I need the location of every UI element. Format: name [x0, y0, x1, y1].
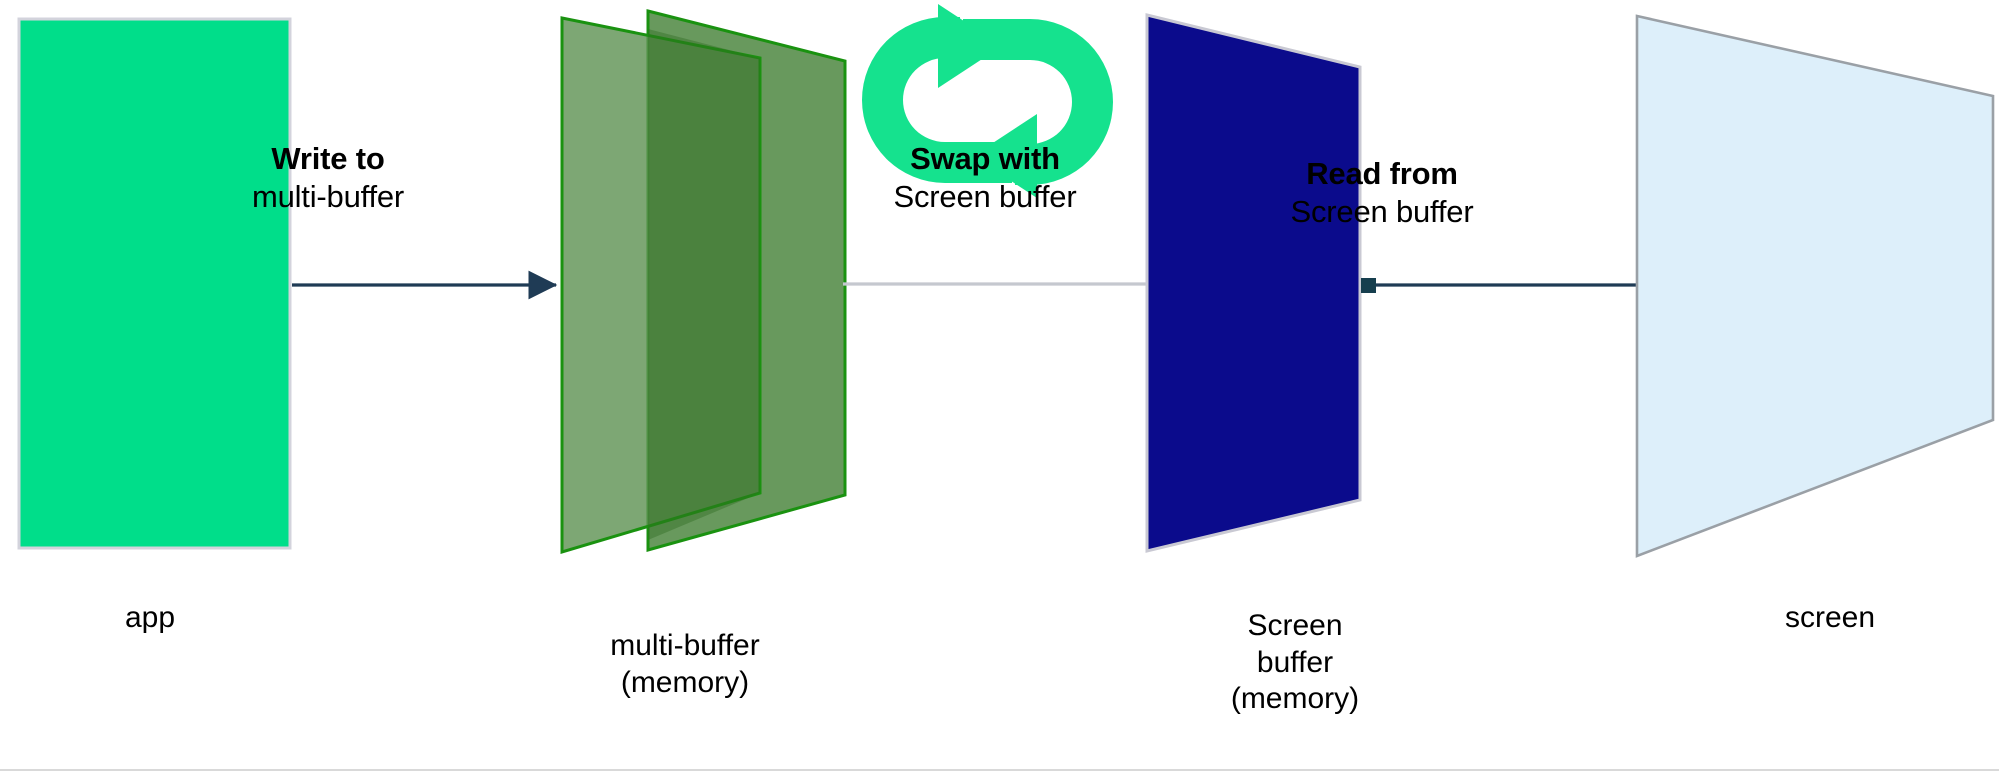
node-screen-caption: screen	[1640, 600, 1999, 637]
node-screenbuffer-caption-line-1: Screen	[1125, 608, 1465, 645]
node-screen-caption-line-1: screen	[1640, 600, 1999, 637]
node-multibuffer-caption: multi-buffer (memory)	[415, 628, 955, 701]
connector-read-label-plain: Screen buffer	[1172, 193, 1592, 231]
node-app-caption: app	[0, 600, 340, 637]
node-screenbuffer-shape	[1147, 15, 1360, 551]
node-app-caption-line-1: app	[0, 600, 340, 637]
connector-write-label-bold: Write to	[118, 140, 538, 178]
node-screenbuffer-caption-line-3: (memory)	[1125, 681, 1465, 718]
diagram-canvas: Write to multi-buffer Swap with Screen b…	[0, 0, 1999, 771]
connector-swap-label-plain: Screen buffer	[775, 178, 1195, 216]
connector-swap-label-bold: Swap with	[775, 140, 1195, 178]
node-multibuffer-caption-line-1: multi-buffer	[415, 628, 955, 665]
node-screenbuffer-caption-line-2: buffer	[1125, 645, 1465, 682]
connector-write-label: Write to multi-buffer	[118, 140, 538, 216]
connector-swap-label: Swap with Screen buffer	[775, 140, 1195, 216]
diagram-graphics	[0, 0, 1999, 771]
node-app-shape	[19, 19, 290, 548]
node-screenbuffer-caption: Screen buffer (memory)	[1125, 608, 1465, 718]
connector-read-square-marker	[1361, 278, 1376, 293]
connector-write-label-plain: multi-buffer	[118, 178, 538, 216]
node-screen-shape	[1637, 16, 1993, 556]
connector-read-label-bold: Read from	[1172, 155, 1592, 193]
node-multibuffer-caption-line-2: (memory)	[415, 665, 955, 702]
node-multibuffer-overlap	[648, 29, 760, 540]
connector-read-label: Read from Screen buffer	[1172, 155, 1592, 231]
